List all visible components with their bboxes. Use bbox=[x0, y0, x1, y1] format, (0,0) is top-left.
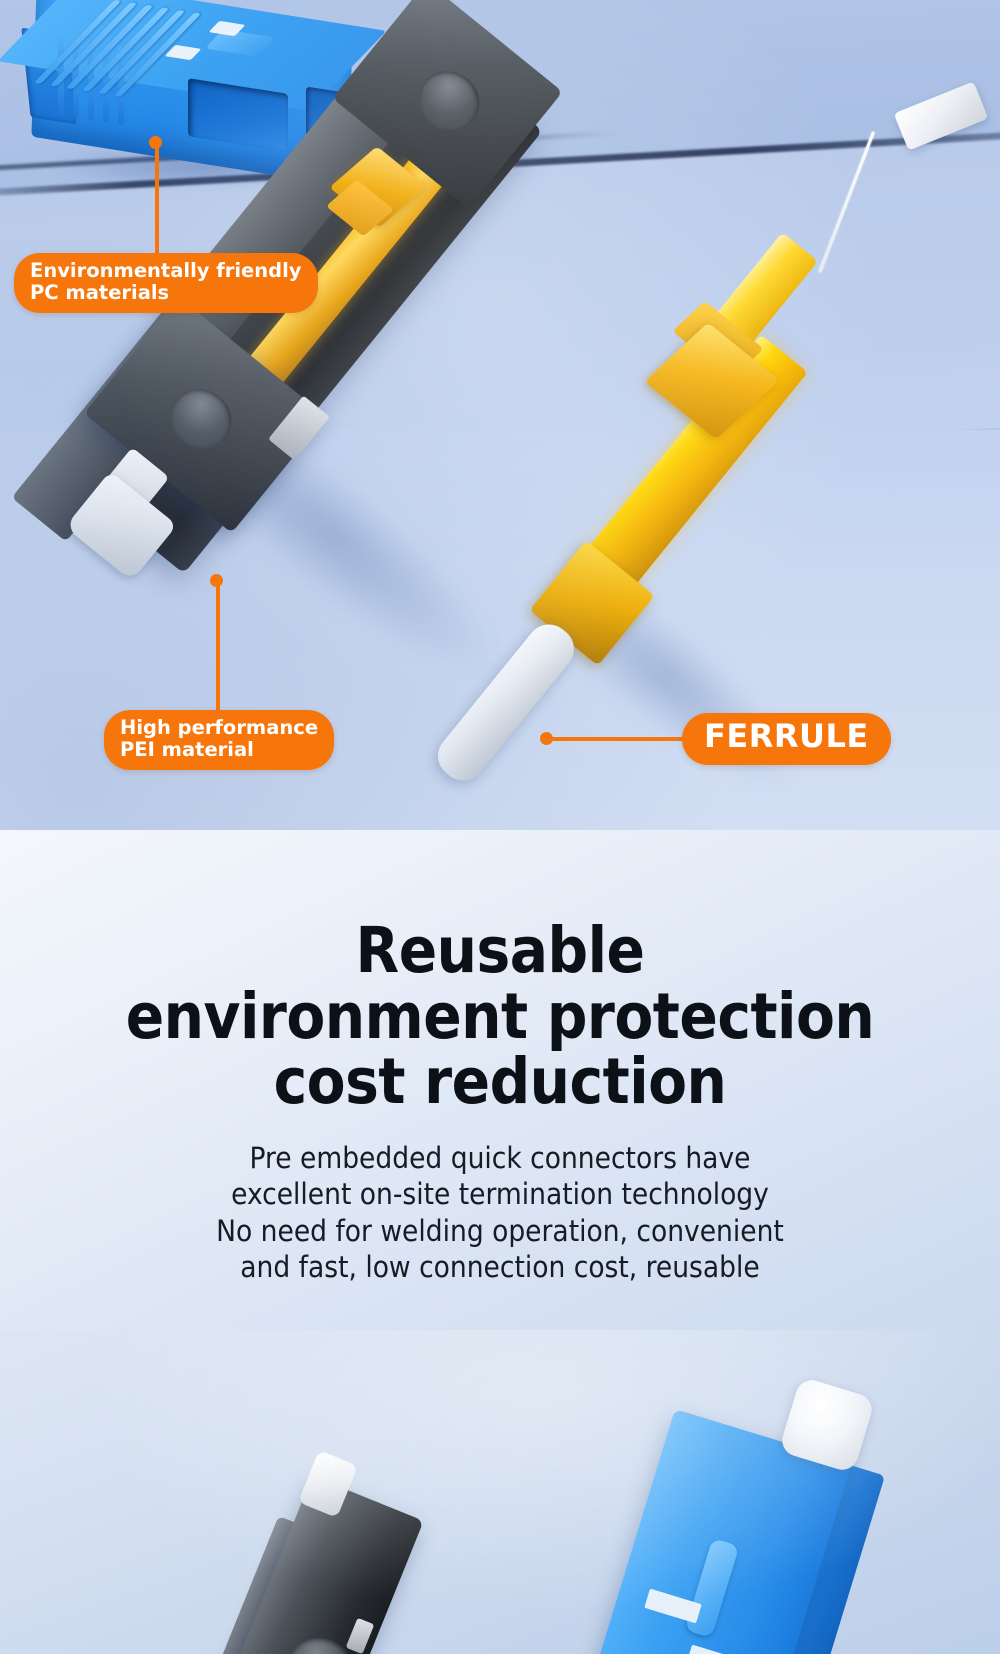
body-line-3: No need for welding operation, convenien… bbox=[0, 1213, 1000, 1249]
callout-leader-ferrule bbox=[546, 737, 692, 741]
headline: Reusable environment protection cost red… bbox=[0, 918, 1000, 1115]
headline-line-3: cost reduction bbox=[0, 1049, 1000, 1115]
callout-environmentally-friendly-pc-materials: Environmentally friendly PC materials bbox=[14, 253, 318, 313]
headline-line-1: Reusable bbox=[0, 918, 1000, 984]
body-line-4: and fast, low connection cost, reusable bbox=[0, 1249, 1000, 1285]
hero-product-photo: Environmentally friendly PC materials Hi… bbox=[0, 0, 1000, 830]
callout-ferrule: FERRULE bbox=[682, 713, 891, 765]
bottom-vignette bbox=[0, 1330, 1000, 1654]
callout-leader-eco bbox=[155, 142, 159, 260]
hero-vignette bbox=[0, 0, 1000, 830]
body-line-1: Pre embedded quick connectors have bbox=[0, 1140, 1000, 1176]
marketing-text-section: Reusable environment protection cost red… bbox=[0, 830, 1000, 1330]
callout-leader-pei bbox=[216, 580, 220, 714]
headline-line-2: environment protection bbox=[0, 984, 1000, 1050]
callout-high-performance-pei-material: High performance PEI material bbox=[104, 710, 334, 770]
product-marketing-page: Environmentally friendly PC materials Hi… bbox=[0, 0, 1000, 1654]
body-paragraph: Pre embedded quick connectors have excel… bbox=[0, 1140, 1000, 1285]
bottom-product-photo bbox=[0, 1330, 1000, 1654]
body-line-2: excellent on-site termination technology bbox=[0, 1176, 1000, 1212]
